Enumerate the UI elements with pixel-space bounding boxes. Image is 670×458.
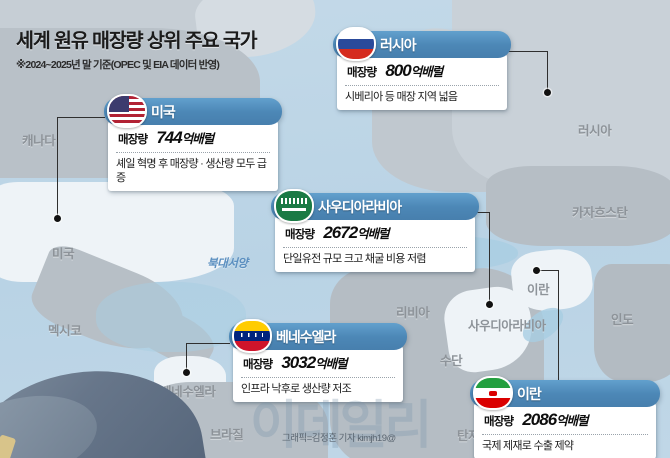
callout-header-iran: 이란: [470, 380, 660, 407]
reserve-value-iran: 2086억배럴: [522, 410, 587, 430]
callout-header-usa: 미국: [104, 98, 282, 125]
leader-dot-saudi: [486, 301, 493, 308]
map-label-libya: 리비아: [396, 302, 429, 321]
reserve-row-iran: 매장량 2086억배럴: [482, 409, 648, 434]
callout-header-venezuela: 베네수엘라: [229, 323, 407, 350]
callout-divider-saudi: [283, 247, 467, 248]
map-label-mexico: 멕시코: [48, 320, 81, 339]
callout-saudi-arabia[interactable]: 사우디아라비아 매장량 2672억배럴 단일유전 규모 크고 채굴 비용 저렴: [271, 193, 479, 272]
reserve-value-venezuela: 3032억배럴: [281, 353, 346, 373]
page-title: 세계 원유 매장량 상위 주요 국가: [16, 24, 257, 53]
callout-country-venezuela: 베네수엘라: [276, 327, 335, 347]
iran-flag-icon: [473, 376, 513, 410]
callout-note-usa: 셰일 혁명 후 매장량 · 생산량 모두 급증: [116, 157, 270, 185]
byline-credit: 그래픽=김정훈 기자 kimjh19@: [282, 430, 396, 444]
map-label-usa: 미국: [52, 243, 74, 262]
reserve-row-usa: 매장량 744억배럴: [116, 127, 270, 152]
callout-note-venezuela: 인프라 낙후로 생산량 저조: [241, 382, 395, 396]
leader-line-iran-v: [558, 270, 559, 390]
callout-country-iran: 이란: [517, 384, 541, 404]
callout-header-saudi: 사우디아라비아: [271, 193, 479, 220]
map-label-india: 인도: [611, 309, 633, 328]
callout-note-russia: 시베리아 등 매장 지역 넓음: [345, 90, 499, 104]
leader-line-usa-v: [57, 117, 58, 218]
leader-line-russia-v: [547, 51, 548, 92]
callout-country-russia: 러시아: [380, 35, 416, 55]
reserve-label-iran: 매장량: [484, 413, 513, 429]
venezuela-flag-icon: [232, 319, 272, 353]
page-subtitle: ※2024~2025년 말 기준(OPEC 및 EIA 데이터 반영): [16, 57, 257, 72]
headline-block: 세계 원유 매장량 상위 주요 국가 ※2024~2025년 말 기준(OPEC…: [16, 24, 257, 72]
reserve-value-russia: 800억배럴: [385, 61, 442, 81]
reserve-value-usa: 744억배럴: [156, 128, 213, 148]
leader-dot-usa: [54, 215, 61, 222]
map-label-iran: 이란: [527, 279, 549, 298]
callout-note-iran: 국제 제재로 수출 제약: [482, 439, 648, 453]
callout-body-iran: 매장량 2086억배럴 국제 제재로 수출 제약: [474, 403, 656, 458]
callout-iran[interactable]: 이란 매장량 2086억배럴 국제 제재로 수출 제약: [470, 380, 660, 458]
leader-line-usa-h: [57, 117, 105, 118]
reserve-label-russia: 매장량: [347, 64, 376, 80]
reserve-value-saudi: 2672억배럴: [323, 223, 388, 243]
leader-dot-russia: [544, 89, 551, 96]
reserve-row-saudi: 매장량 2672억배럴: [283, 222, 467, 247]
callout-divider-russia: [345, 85, 499, 86]
map-label-canada: 캐나다: [22, 130, 55, 149]
usa-flag-icon: [107, 94, 147, 128]
russia-flag-icon: [336, 27, 376, 61]
callout-body-saudi: 매장량 2672억배럴 단일유전 규모 크고 채굴 비용 저렴: [275, 216, 475, 272]
callout-divider-venezuela: [241, 377, 395, 378]
callout-body-usa: 매장량 744억배럴 셰일 혁명 후 매장량 · 생산량 모두 급증: [108, 121, 278, 191]
reserve-label-venezuela: 매장량: [243, 356, 272, 372]
callout-header-russia: 러시아: [333, 31, 511, 58]
callout-note-saudi: 단일유전 규모 크고 채굴 비용 저렴: [283, 252, 467, 266]
infographic-root: 세계 원유 매장량 상위 주요 국가 ※2024~2025년 말 기준(OPEC…: [0, 0, 670, 458]
leader-line-venezuela-v: [186, 343, 187, 372]
map-label-kazakhstan: 카자흐스탄: [572, 202, 628, 221]
saudi-arabia-flag-icon: [274, 189, 314, 223]
callout-country-usa: 미국: [151, 102, 175, 122]
callout-divider-iran: [482, 434, 648, 435]
map-label-russia: 러시아: [578, 120, 611, 139]
leader-dot-venezuela: [183, 369, 190, 376]
callout-venezuela[interactable]: 베네수엘라 매장량 3032억배럴 인프라 낙후로 생산량 저조: [229, 323, 407, 402]
map-label-saudi-arabia: 사우디아라비아: [468, 315, 546, 334]
leader-line-venezuela-h: [186, 343, 230, 344]
callout-divider-usa: [116, 152, 270, 153]
reserve-row-venezuela: 매장량 3032억배럴: [241, 352, 395, 377]
leader-line-saudi-v: [489, 212, 490, 304]
callout-body-venezuela: 매장량 3032억배럴 인프라 낙후로 생산량 저조: [233, 346, 403, 402]
reserve-row-russia: 매장량 800억배럴: [345, 60, 499, 85]
sea-caribbean: [96, 282, 246, 352]
callout-usa[interactable]: 미국 매장량 744억배럴 셰일 혁명 후 매장량 · 생산량 모두 급증: [104, 98, 282, 191]
reserve-label-saudi: 매장량: [285, 226, 314, 242]
reserve-label-usa: 매장량: [118, 131, 147, 147]
map-label-sudan: 수단: [440, 350, 462, 369]
map-label-brazil: 브라질: [210, 424, 243, 443]
map-label-north-atlantic: 북대서양: [207, 255, 248, 271]
callout-body-russia: 매장량 800억배럴 시베리아 등 매장 지역 넓음: [337, 54, 507, 110]
callout-russia[interactable]: 러시아 매장량 800억배럴 시베리아 등 매장 지역 넓음: [333, 31, 511, 110]
leader-dot-iran: [533, 267, 540, 274]
callout-country-saudi: 사우디아라비아: [318, 197, 401, 217]
